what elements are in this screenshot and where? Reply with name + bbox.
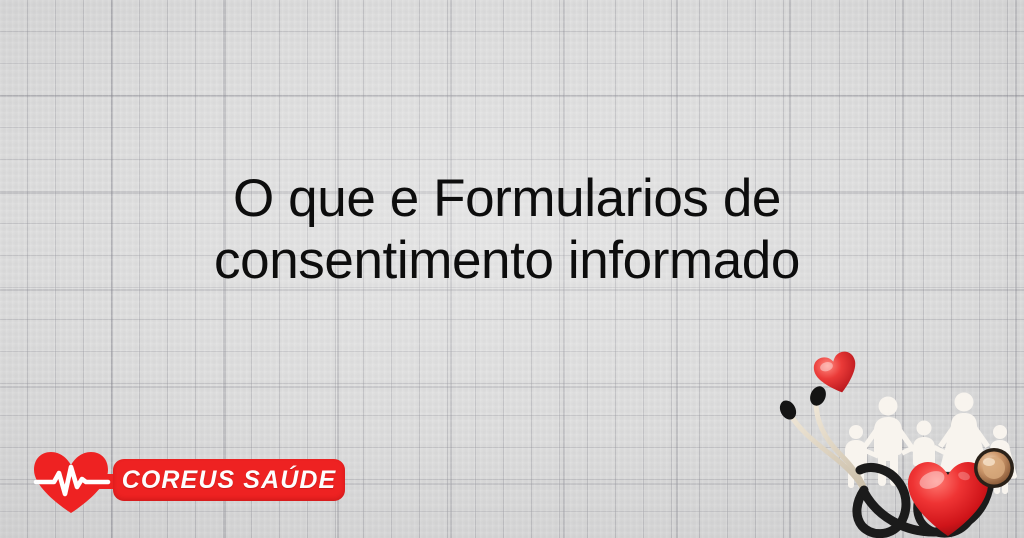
brand-logo[interactable]: COREUS SAÚDE [30,449,350,515]
title-line-2: consentimento informado [0,230,1014,292]
heart-pulse-icon [30,449,112,515]
stethoscope-family-heart-illustration [768,340,1024,538]
title-line-1: O que e Formularios de [0,168,1014,230]
brand-name-pill: COREUS SAÚDE [113,459,345,501]
stethoscope-ear-tips [777,384,829,422]
slide-title: O que e Formularios de consentimento inf… [0,168,1024,292]
brand-name-label: COREUS SAÚDE [113,459,345,501]
slide-canvas: O que e Formularios de consentimento inf… [0,0,1024,538]
stethoscope-chestpiece [974,448,1014,488]
